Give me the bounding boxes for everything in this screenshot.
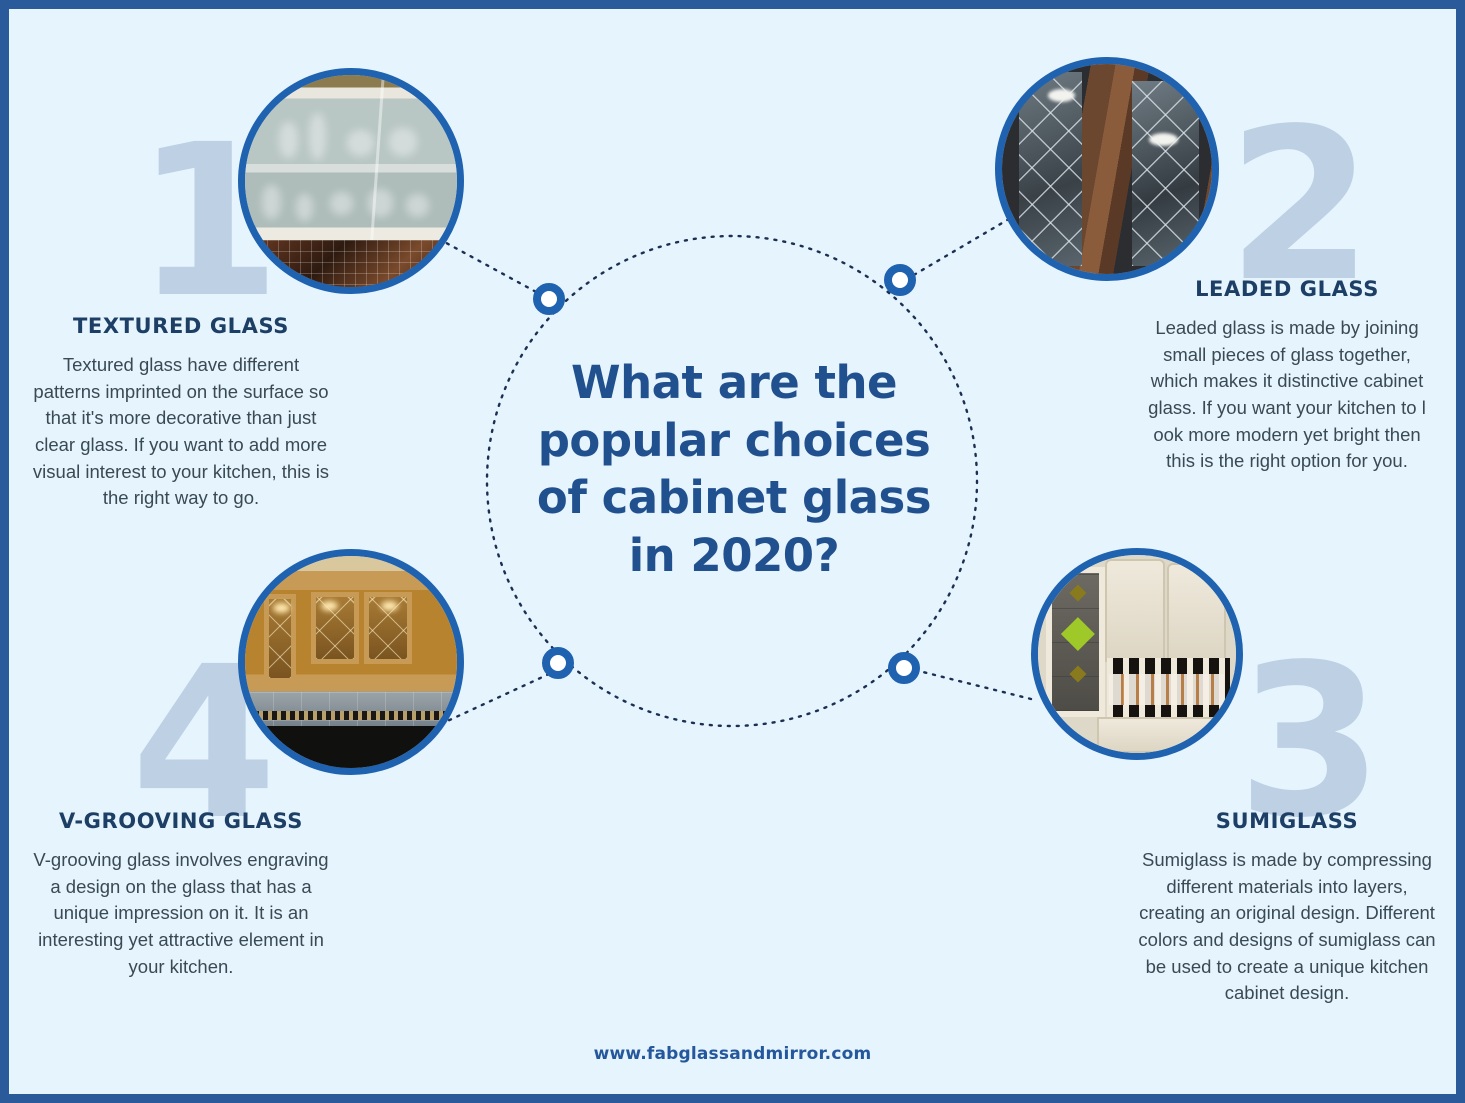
- photo-textured-glass: [238, 68, 464, 294]
- node-1: [537, 287, 561, 311]
- section-block-v-grooving-glass: V-GROOVING GLASS V-grooving glass involv…: [31, 809, 331, 980]
- footer-website-url[interactable]: www.fabglassandmirror.com: [9, 1044, 1456, 1064]
- section-body-3: Sumiglass is made by compressing differe…: [1137, 847, 1437, 1007]
- section-block-sumiglass: SUMIGLASS Sumiglass is made by compressi…: [1137, 809, 1437, 1007]
- center-title-line-4: in 2020?: [479, 527, 989, 585]
- node-2: [888, 268, 912, 292]
- section-heading-3: SUMIGLASS: [1137, 809, 1437, 833]
- photo-textured-glass-image: [245, 75, 457, 287]
- photo-sumiglass-image: [1038, 555, 1236, 753]
- section-body-4: V-grooving glass involves engraving a de…: [31, 847, 331, 980]
- center-title: What are the popular choices of cabinet …: [479, 354, 989, 584]
- section-heading-2: LEADED GLASS: [1137, 277, 1437, 301]
- node-3: [892, 656, 916, 680]
- section-block-leaded-glass: LEADED GLASS Leaded glass is made by joi…: [1137, 277, 1437, 475]
- node-4: [546, 651, 570, 675]
- photo-leaded-glass-image: [1002, 64, 1212, 274]
- photo-leaded-glass: [995, 57, 1219, 281]
- center-title-line-2: popular choices: [479, 412, 989, 470]
- section-heading-4: V-GROOVING GLASS: [31, 809, 331, 833]
- spoke-2: [907, 219, 1009, 279]
- section-heading-1: TEXTURED GLASS: [31, 314, 331, 338]
- infographic-canvas: 1 2 3 4: [9, 9, 1456, 1094]
- photo-sumiglass: [1031, 548, 1243, 760]
- section-block-textured-glass: TEXTURED GLASS Textured glass have diffe…: [31, 314, 331, 512]
- photo-v-grooving-glass: [238, 549, 464, 775]
- photo-v-grooving-glass-image: [245, 556, 457, 768]
- spoke-3: [919, 671, 1031, 699]
- center-title-line-3: of cabinet glass: [479, 469, 989, 527]
- section-body-2: Leaded glass is made by joining small pi…: [1137, 315, 1437, 475]
- center-title-line-1: What are the: [479, 354, 989, 412]
- section-body-1: Textured glass have different patterns i…: [31, 352, 331, 512]
